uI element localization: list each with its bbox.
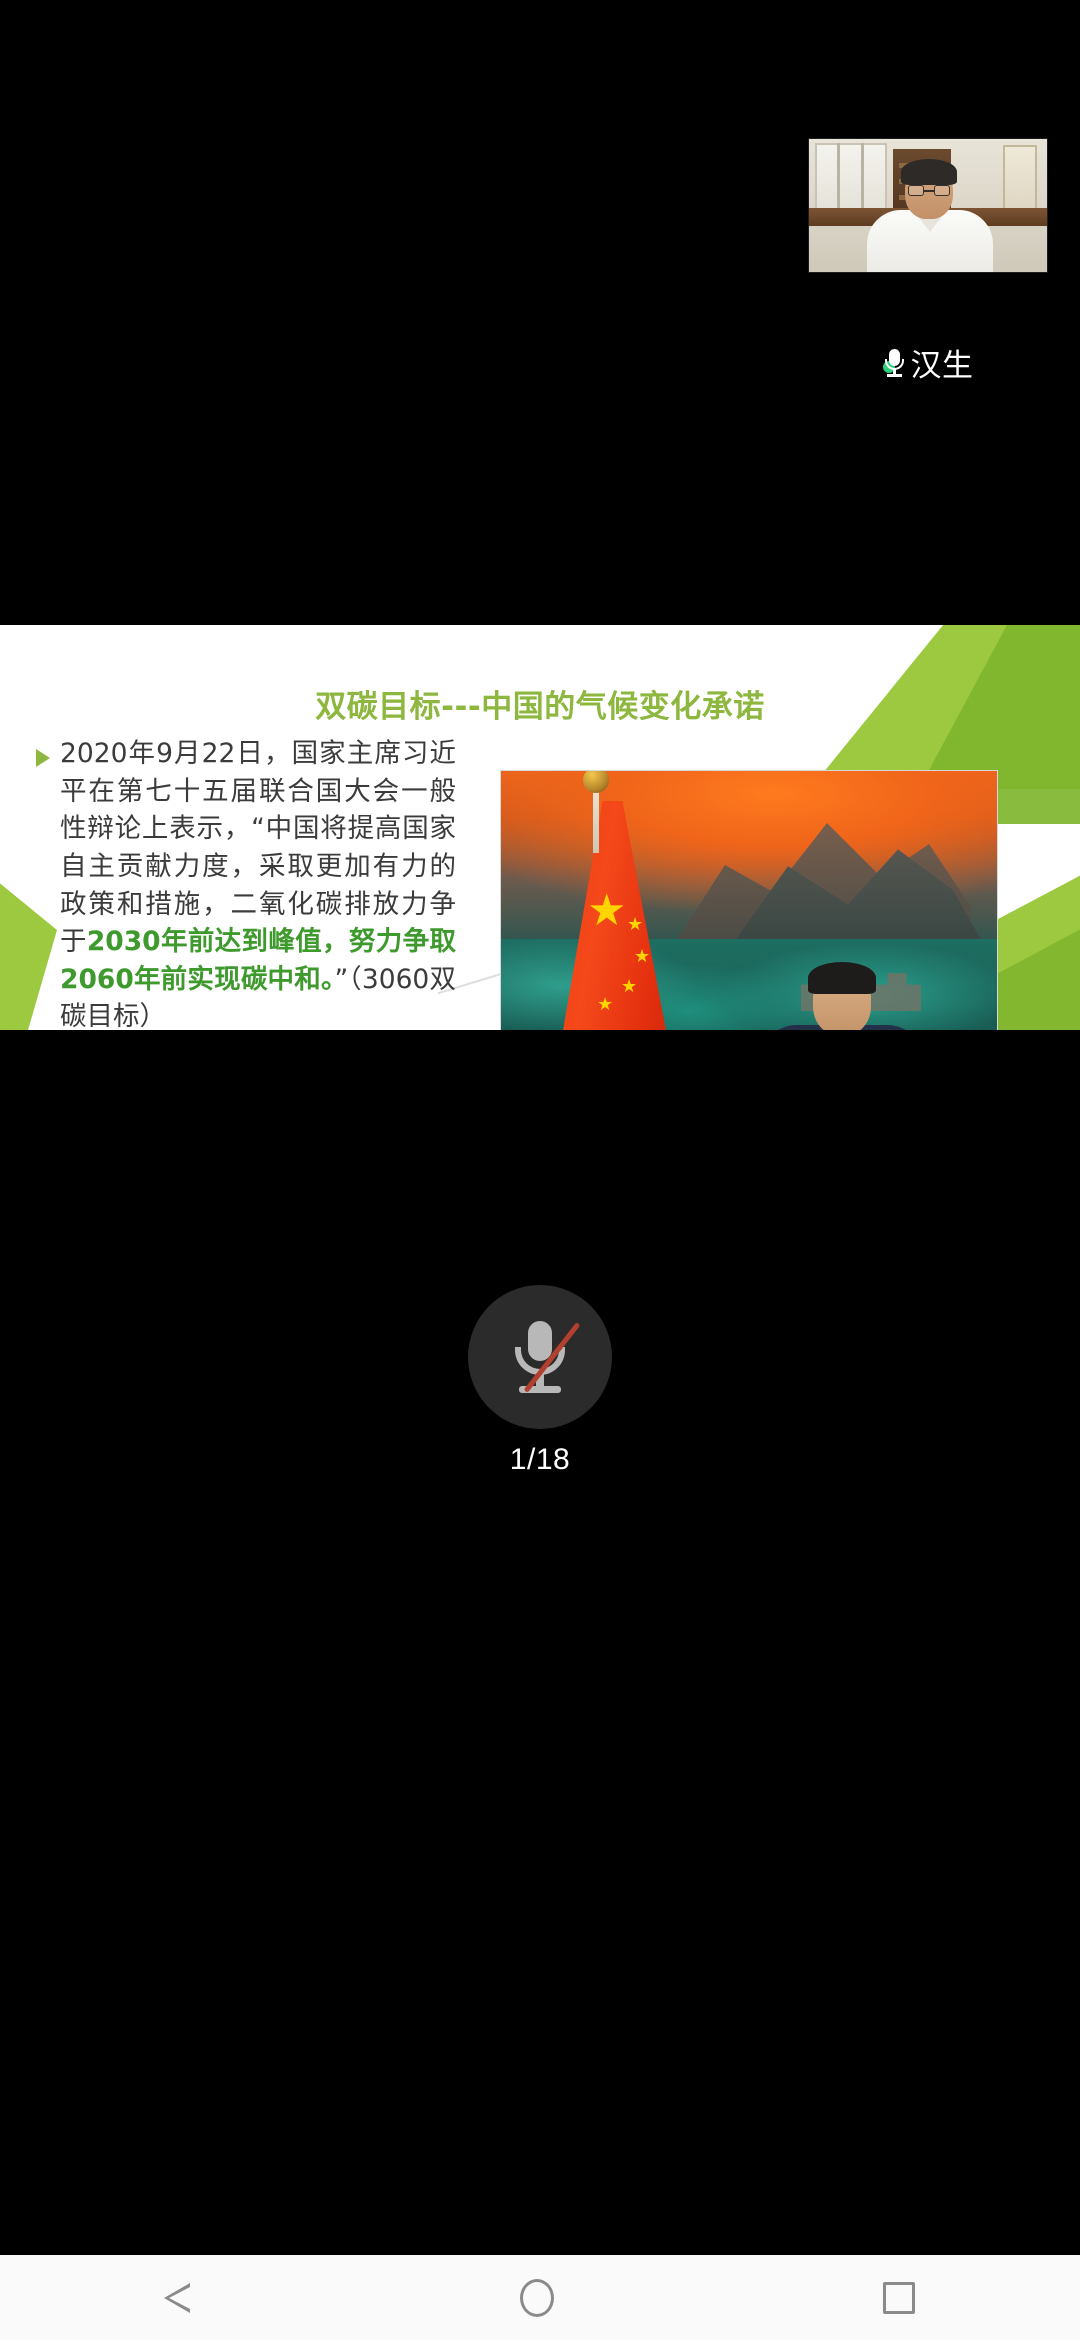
recents-button[interactable] bbox=[883, 2282, 915, 2314]
app-root: 汉生 双碳目标---中国的气候变化承诺 2020年9月22日，国家主席习近平在第… bbox=[0, 0, 1080, 2340]
glasses-icon bbox=[908, 185, 950, 196]
flag-star-large: ★ bbox=[587, 889, 626, 933]
flag-star-small-2: ★ bbox=[634, 947, 650, 965]
participant-video-thumbnail[interactable] bbox=[808, 138, 1048, 273]
video-stage: 汉生 bbox=[0, 0, 1080, 625]
active-speaker-row: 汉生 bbox=[808, 340, 1048, 385]
slide-title: 双碳目标---中国的气候变化承诺 bbox=[0, 681, 1080, 726]
photo-speaker-hair bbox=[808, 962, 876, 994]
flag-star-small-3: ★ bbox=[621, 977, 637, 995]
slide-bullet-text: 2020年9月22日，国家主席习近平在第七十五届联合国大会一般性辩论上表示，“中… bbox=[60, 735, 456, 1030]
xi-jinping-un-speech-photo: 中国 CHINA ★ ★ ★ ★ ★ bbox=[500, 770, 998, 1030]
home-button[interactable] bbox=[520, 2279, 554, 2317]
photo-speaker-figure bbox=[759, 967, 925, 1030]
microphone-off-icon bbox=[505, 1319, 575, 1395]
mute-microphone-button[interactable] bbox=[468, 1285, 612, 1429]
thumbnail-person-hair bbox=[901, 159, 957, 185]
flag-star-small-4: ★ bbox=[597, 995, 613, 1013]
speaker-name: 汉生 bbox=[911, 340, 974, 385]
back-button[interactable] bbox=[165, 2283, 191, 2313]
bullet-text-part-1: 2020年9月22日，国家主席习近平在第七十五届联合国大会一般性辩论上表示，“中… bbox=[60, 738, 456, 957]
android-navigation-bar bbox=[0, 2255, 1080, 2340]
microphone-icon bbox=[883, 348, 905, 378]
presentation-slide[interactable]: 双碳目标---中国的气候变化承诺 2020年9月22日，国家主席习近平在第七十五… bbox=[0, 625, 1080, 1030]
triangle-bullet-icon bbox=[36, 749, 50, 767]
bottom-control-area bbox=[0, 1030, 1080, 2255]
flag-star-small-1: ★ bbox=[627, 915, 643, 933]
slide-body: 2020年9月22日，国家主席习近平在第七十五届联合国大会一般性辩论上表示，“中… bbox=[36, 735, 456, 1030]
page-indicator: 1/18 bbox=[510, 1443, 570, 1477]
